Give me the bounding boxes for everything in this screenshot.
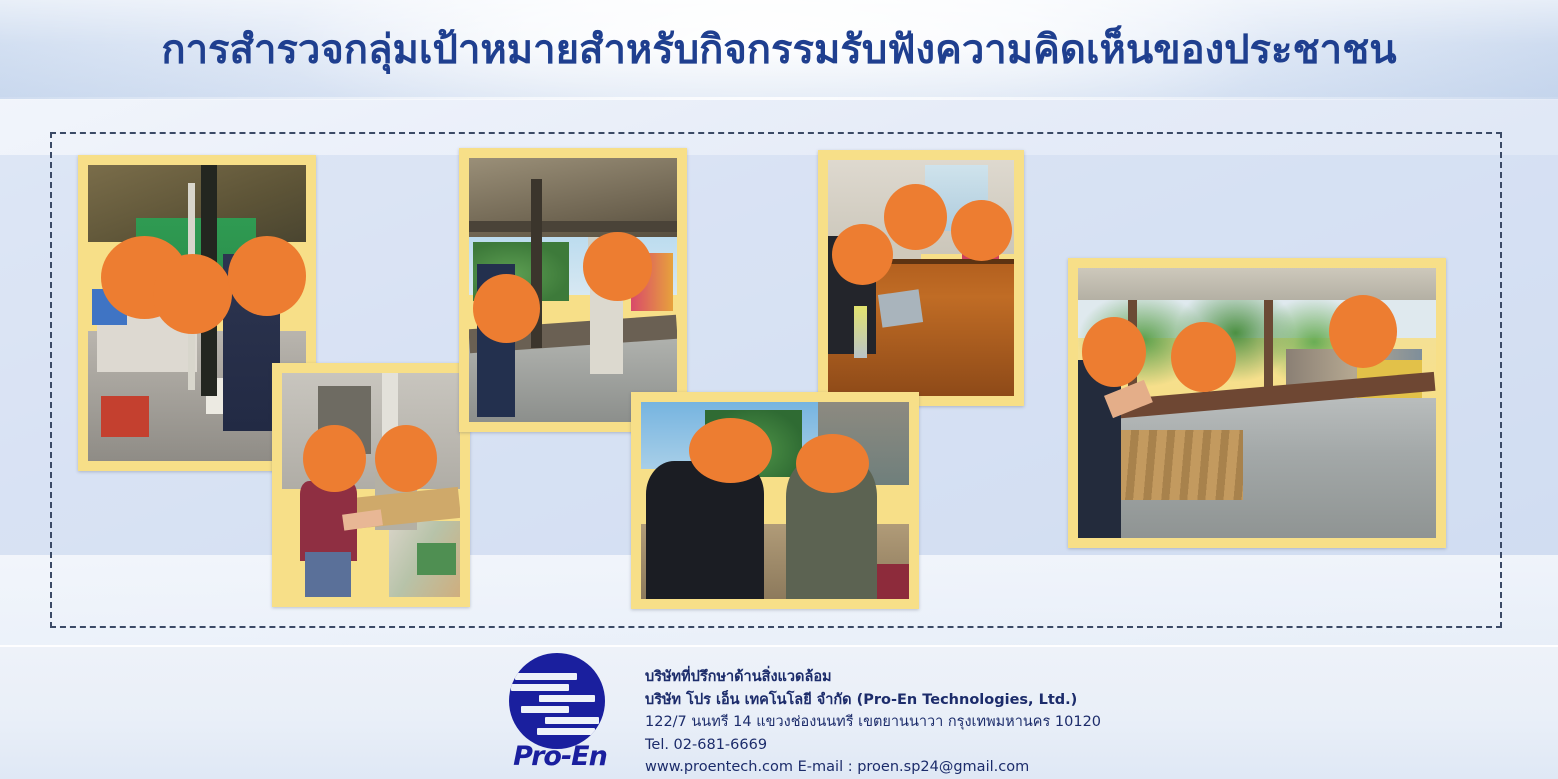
gallery-photo-5-image: [641, 402, 909, 599]
gallery-photo-3-image: [469, 158, 677, 422]
footer-line-1: บริษัทที่ปรึกษาด้านสิ่งแวดล้อม: [645, 666, 1465, 689]
face-redaction: [375, 425, 437, 492]
face-redaction: [153, 254, 231, 334]
gallery-photo-2[interactable]: [272, 363, 470, 607]
gallery-photo-5[interactable]: [631, 392, 919, 609]
title-band-underline: [0, 97, 1558, 100]
footer-line-5: www.proentech.com E-mail : proen.sp24@gm…: [645, 756, 1465, 779]
gallery-photo-4-image: [828, 160, 1014, 396]
face-redaction: [583, 232, 652, 301]
company-logo: Pro-En: [497, 653, 623, 773]
face-redaction: [1329, 295, 1397, 368]
page-title: การสำรวจกลุ่มเป้าหมายสำหรับกิจกรรมรับฟัง…: [0, 22, 1558, 78]
face-redaction: [1082, 317, 1146, 387]
face-redaction: [796, 434, 868, 493]
gallery-photo-4[interactable]: [818, 150, 1024, 406]
pro-en-logo-icon: [509, 653, 605, 749]
footer-contact-block: บริษัทที่ปรึกษาด้านสิ่งแวดล้อม บริษัท โป…: [645, 666, 1465, 779]
gallery-photo-6[interactable]: [1068, 258, 1446, 548]
gallery-photo-6-image: [1078, 268, 1436, 538]
footer-divider: [0, 645, 1558, 647]
face-redaction: [1171, 322, 1235, 392]
logo-wordmark: Pro-En: [497, 741, 623, 772]
face-redaction: [303, 425, 365, 492]
face-redaction: [473, 274, 540, 343]
gallery-photo-3[interactable]: [459, 148, 687, 432]
footer-line-4: Tel. 02-681-6669: [645, 734, 1465, 757]
presentation-slide: การสำรวจกลุ่มเป้าหมายสำหรับกิจกรรมรับฟัง…: [0, 0, 1558, 779]
footer-line-2: บริษัท โปร เอ็น เทคโนโลยี จำกัด (Pro-En …: [645, 689, 1465, 712]
face-redaction: [832, 224, 893, 285]
footer-line-3: 122/7 นนทรี 14 แขวงช่องนนทรี เขตยานนาวา …: [645, 711, 1465, 734]
gallery-photo-2-image: [282, 373, 460, 597]
face-redaction: [228, 236, 306, 316]
face-redaction: [884, 184, 947, 250]
face-redaction: [689, 418, 772, 483]
